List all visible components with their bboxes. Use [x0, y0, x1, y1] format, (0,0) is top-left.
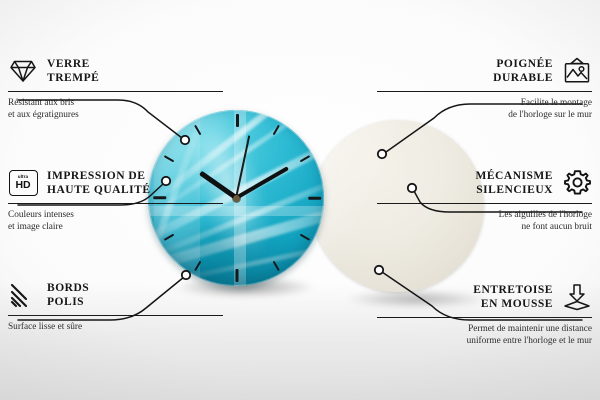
divider: [377, 91, 592, 92]
hd-main-label: HD: [16, 180, 31, 191]
callout-description: Surface lisse et sûre: [8, 321, 223, 333]
callout-poignee-durable[interactable]: POIGNÉE DURABLE Facilite le montage de l…: [377, 56, 592, 121]
callout-title: VERRE TREMPÉ: [47, 57, 99, 85]
hanging-frame-icon: [562, 56, 592, 86]
ultra-hd-icon: ultra HD: [8, 168, 38, 198]
callout-impression-haute-qualite[interactable]: ultra HD IMPRESSION DE HAUTE QUALITÉ Cou…: [8, 168, 223, 233]
divider: [8, 315, 223, 316]
callout-description: Facilite le montage de l'horloge sur le …: [377, 97, 592, 121]
callout-description: Couleurs intenses et image claire: [8, 209, 223, 233]
divider: [8, 91, 223, 92]
callout-description: Permet de maintenir une distance uniform…: [377, 323, 592, 347]
callout-title: MÉCANISME SILENCIEUX: [476, 169, 554, 197]
callout-title: ENTRETOISE EN MOUSSE: [473, 283, 553, 311]
callout-entretoise-en-mousse[interactable]: ENTRETOISE EN MOUSSE Permet de maintenir…: [377, 282, 592, 347]
callout-mecanisme-silencieux[interactable]: MÉCANISME SILENCIEUX Les aiguilles de l'…: [377, 168, 592, 233]
foam-spacer-icon: [562, 282, 592, 312]
callout-verre-trempe[interactable]: VERRE TREMPÉ Résistant aux bris et aux é…: [8, 56, 223, 121]
infographic-canvas: VERRE TREMPÉ Résistant aux bris et aux é…: [0, 0, 600, 400]
divider: [8, 203, 223, 204]
gear-icon: [562, 168, 592, 198]
divider: [377, 317, 592, 318]
callout-title: BORDS POLIS: [47, 281, 89, 309]
divider: [377, 203, 592, 204]
callout-title: IMPRESSION DE HAUTE QUALITÉ: [47, 169, 151, 197]
callout-title: POIGNÉE DURABLE: [493, 57, 553, 85]
callout-description: Les aiguilles de l'horloge ne font aucun…: [377, 209, 592, 233]
callout-bords-polis[interactable]: BORDS POLIS Surface lisse et sûre: [8, 280, 223, 333]
callout-description: Résistant aux bris et aux égratignures: [8, 97, 223, 121]
diamond-icon: [8, 56, 38, 86]
polished-edges-icon: [8, 280, 38, 310]
